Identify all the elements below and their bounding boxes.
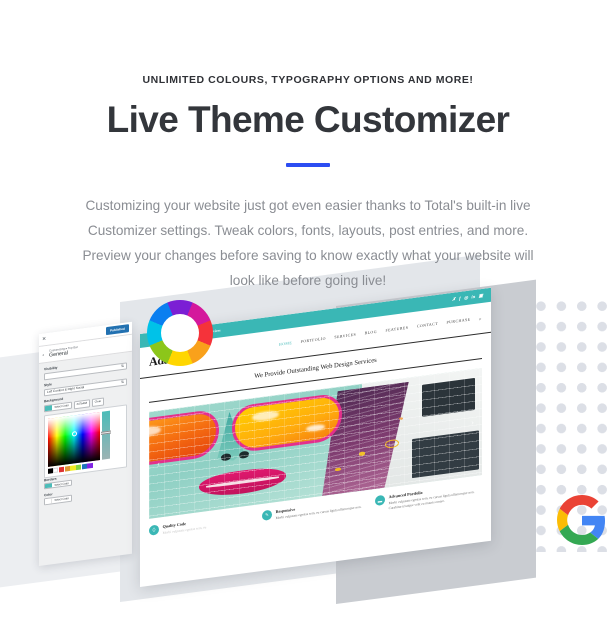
linkedin-icon[interactable]: in	[471, 295, 475, 300]
code-icon: ⟨⟩	[149, 524, 159, 535]
twitter-icon[interactable]: ✗	[452, 297, 456, 302]
menu-item-portfolio[interactable]: PORTFOLIO	[301, 337, 326, 344]
menu-item-services[interactable]: SERVICES	[334, 333, 356, 340]
background-select-color-button[interactable]: Select Color	[44, 402, 72, 412]
menu-item-contact[interactable]: CONTACT	[417, 322, 438, 329]
palette-swatch[interactable]	[70, 465, 75, 471]
hue-slider[interactable]	[102, 410, 110, 459]
showcase-stage: ✕ Published ‹ Customizing ▸ Top Bar Gene…	[0, 292, 616, 630]
search-icon[interactable]: ⌕	[479, 315, 482, 320]
palette-swatch[interactable]	[65, 466, 70, 472]
carousel-next-icon[interactable]: ›	[471, 419, 473, 426]
instagram-icon[interactable]: ◎	[464, 296, 468, 301]
picker-handle[interactable]	[72, 431, 77, 437]
wp-customizer-panel: ✕ Published ‹ Customizing ▸ Top Bar Gene…	[39, 322, 132, 566]
title-divider	[286, 163, 330, 167]
color-swatch	[45, 483, 52, 488]
menu-item-blog[interactable]: BLOG	[365, 330, 377, 336]
color-swatch	[45, 406, 52, 411]
chevron-down-icon: ⇅	[121, 381, 124, 384]
close-icon[interactable]: ✕	[42, 337, 46, 343]
facebook-icon[interactable]: f	[459, 296, 461, 301]
customizer-controls: Visibility ⇅ Style Left Content & Right …	[39, 352, 132, 479]
google-logo-icon	[557, 495, 607, 545]
palette-swatch[interactable]	[82, 464, 87, 470]
chevron-down-icon: ⇅	[121, 365, 124, 368]
palette-swatch[interactable]	[87, 463, 92, 469]
hue-slider-handle[interactable]	[101, 430, 111, 434]
pencil-icon: ✎	[262, 510, 272, 521]
social-icons: ✗ f ◎ in ▣	[452, 294, 483, 303]
select-color-label: Select Color	[52, 482, 71, 488]
menu-item-home[interactable]: HOME	[279, 341, 292, 347]
color-wheel-icon	[147, 300, 213, 366]
folder-icon: ▬	[375, 495, 385, 506]
publish-button[interactable]: Published	[106, 325, 129, 335]
hero-section: UNLIMITED COLOURS, TYPOGRAPHY OPTIONS AN…	[0, 0, 616, 293]
hex-value-field[interactable]: #47b4b8	[74, 399, 90, 409]
palette-swatch[interactable]	[59, 467, 64, 473]
page-title: Live Theme Customizer	[0, 99, 616, 140]
color-picker[interactable]	[44, 405, 127, 478]
style-value: Left Content & Right Social	[47, 385, 84, 394]
carousel-prev-icon[interactable]: ‹	[157, 460, 159, 467]
clear-button[interactable]: Clear	[92, 397, 104, 406]
back-chevron-icon[interactable]: ‹	[42, 352, 44, 358]
color-swatch	[45, 499, 52, 504]
flickr-icon[interactable]: ▣	[479, 294, 483, 299]
menu-item-features[interactable]: FEATURES	[385, 326, 408, 333]
select-color-label: Select Color	[52, 404, 71, 410]
saturation-field[interactable]	[48, 412, 100, 467]
hero-eyebrow: UNLIMITED COLOURS, TYPOGRAPHY OPTIONS AN…	[0, 74, 616, 86]
palette-swatch[interactable]	[48, 468, 53, 474]
palette-swatch[interactable]	[76, 464, 81, 470]
menu-item-purchase[interactable]: PURCHASE	[447, 317, 471, 324]
select-color-label: Select Color	[52, 497, 71, 503]
palette-swatch[interactable]	[53, 467, 58, 473]
hero-description: Customizing your website just got even e…	[73, 193, 543, 293]
